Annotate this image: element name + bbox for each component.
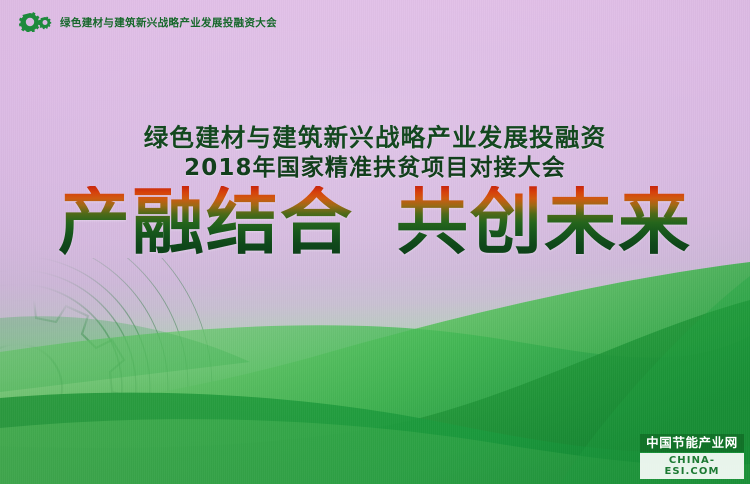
- site-watermark: 中国节能产业网 CHINA-ESI.COM: [640, 434, 744, 479]
- poster-stage: 绿色建材与建筑新兴战略产业发展投融资大会 绿色建材与建筑新兴战略产业发展投融资 …: [0, 0, 750, 484]
- slogan-part-2: 共创未来: [396, 180, 692, 264]
- header-title: 绿色建材与建筑新兴战略产业发展投融资大会: [60, 15, 277, 30]
- header-bar: 绿色建材与建筑新兴战略产业发展投融资大会: [0, 0, 750, 44]
- double-gear-icon: [19, 12, 53, 32]
- conference-title-line1: 绿色建材与建筑新兴战略产业发展投融资: [0, 122, 750, 153]
- watermark-site-name: 中国节能产业网: [640, 434, 744, 452]
- slogan-part-1: 产融结合: [58, 180, 354, 264]
- title-block: 绿色建材与建筑新兴战略产业发展投融资 2018年国家精准扶贫项目对接大会: [0, 122, 750, 184]
- slogan-block: 产融结合共创未来: [0, 186, 750, 259]
- watermark-site-url: CHINA-ESI.COM: [640, 453, 744, 479]
